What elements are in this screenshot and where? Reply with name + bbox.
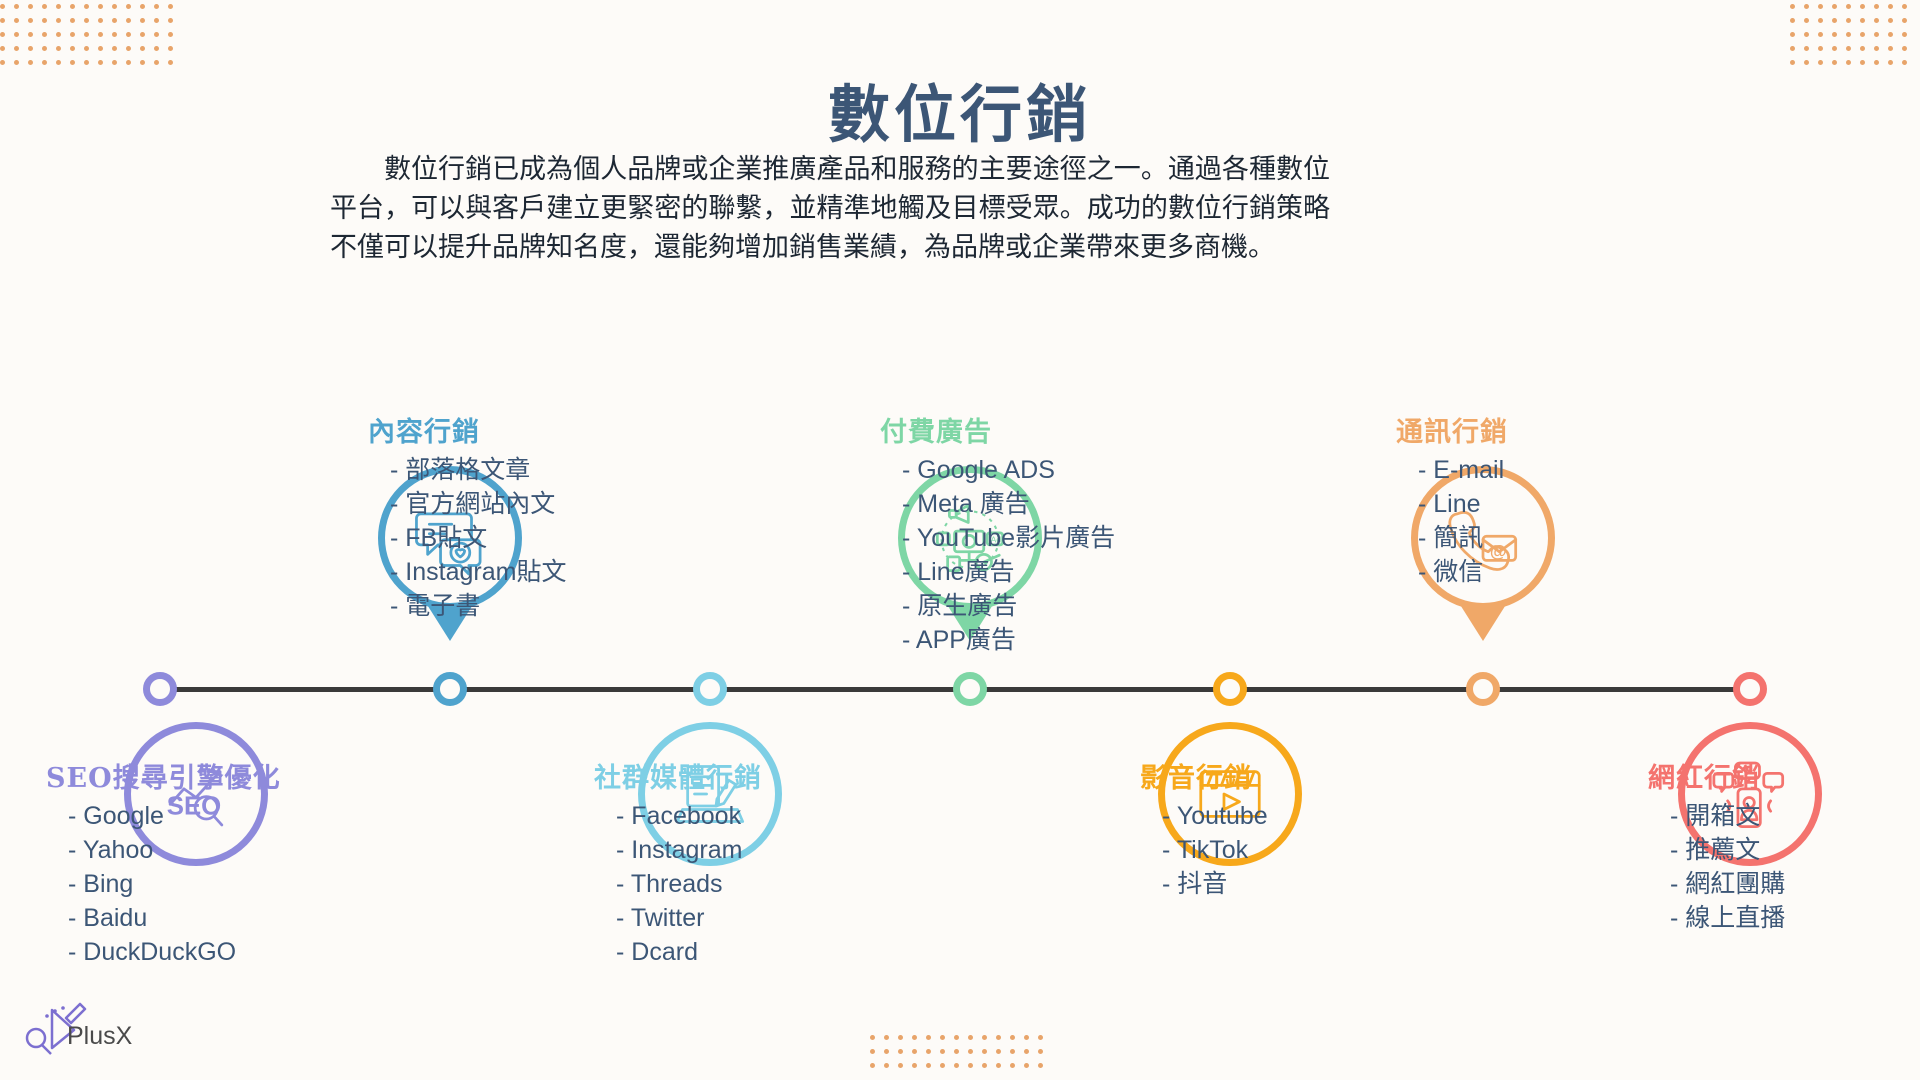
list-item: DuckDuckGO — [68, 935, 346, 969]
dot — [870, 1063, 875, 1068]
dot — [912, 1049, 917, 1054]
dot — [1874, 46, 1879, 51]
dot — [28, 4, 33, 9]
dot — [1818, 32, 1823, 37]
dot — [84, 18, 89, 23]
dot — [1804, 32, 1809, 37]
dot — [14, 18, 19, 23]
timeline-node-paid[interactable] — [953, 672, 987, 706]
dot — [1790, 4, 1795, 9]
dot — [0, 46, 5, 51]
list-item: Youtube — [1162, 799, 1440, 833]
dot — [168, 4, 173, 9]
dot — [140, 18, 145, 23]
dot — [1874, 32, 1879, 37]
dot — [140, 4, 145, 9]
dot — [28, 32, 33, 37]
dot — [1874, 4, 1879, 9]
dot — [56, 4, 61, 9]
dot — [898, 1049, 903, 1054]
dot — [912, 1035, 917, 1040]
dot — [84, 46, 89, 51]
dot — [98, 18, 103, 23]
dot — [1818, 18, 1823, 23]
dot — [42, 46, 47, 51]
timeline-node-seo[interactable] — [143, 672, 177, 706]
list-item: Baidu — [68, 901, 346, 935]
dot — [1860, 32, 1865, 37]
dot — [1804, 18, 1809, 23]
list-item: Facebook — [616, 799, 894, 833]
section-block-video: 影音行銷YoutubeTikTok抖音 — [1140, 756, 1440, 901]
section-list-messaging: E-mailLine簡訊微信 — [1396, 453, 1696, 589]
dot — [1024, 1063, 1029, 1068]
list-item: TikTok — [1162, 833, 1440, 867]
dot — [1832, 32, 1837, 37]
section-heading-messaging: 通訊行銷 — [1396, 410, 1696, 449]
dot — [154, 46, 159, 51]
dot — [154, 32, 159, 37]
section-heading-seo: SEO搜尋引擎優化 — [46, 756, 346, 795]
dot — [56, 32, 61, 37]
dot — [154, 18, 159, 23]
dot — [70, 4, 75, 9]
dot — [98, 46, 103, 51]
dot — [1818, 4, 1823, 9]
dot — [884, 1063, 889, 1068]
list-item: 網紅團購 — [1670, 867, 1920, 901]
timeline-node-messaging[interactable] — [1466, 672, 1500, 706]
dot — [982, 1049, 987, 1054]
dot — [1860, 4, 1865, 9]
dot — [1902, 18, 1907, 23]
dot — [28, 46, 33, 51]
dot — [1860, 46, 1865, 51]
dot — [1790, 46, 1795, 51]
dot — [1038, 1063, 1043, 1068]
dot — [0, 32, 5, 37]
section-heading-influencer: 網紅行銷 — [1648, 756, 1920, 795]
dot — [940, 1035, 945, 1040]
list-item: E-mail — [1418, 453, 1696, 487]
dot — [1902, 46, 1907, 51]
page-title: 數位行銷 — [0, 64, 1920, 154]
list-item: Instagram貼文 — [390, 555, 668, 589]
dot — [1888, 18, 1893, 23]
dot — [1888, 32, 1893, 37]
dot — [1010, 1049, 1015, 1054]
list-item: 微信 — [1418, 555, 1696, 589]
dot — [70, 46, 75, 51]
list-item: 線上直播 — [1670, 901, 1920, 935]
dot — [126, 4, 131, 9]
plusx-logo: PlusX — [22, 1000, 147, 1062]
dot — [112, 46, 117, 51]
section-list-influencer: 開箱文推薦文網紅團購線上直播 — [1648, 799, 1920, 935]
dot — [982, 1035, 987, 1040]
dot — [140, 46, 145, 51]
dot — [98, 32, 103, 37]
logo-text: PlusX — [67, 1022, 132, 1051]
dot — [42, 18, 47, 23]
dot — [1846, 4, 1851, 9]
dot — [126, 32, 131, 37]
dot — [0, 18, 5, 23]
dot — [954, 1035, 959, 1040]
section-block-influencer: 網紅行銷開箱文推薦文網紅團購線上直播 — [1648, 756, 1920, 935]
dot — [1846, 32, 1851, 37]
dot-grid-bottom — [870, 1035, 1060, 1080]
list-item: Dcard — [616, 935, 894, 969]
dot — [1790, 32, 1795, 37]
timeline-node-social[interactable] — [693, 672, 727, 706]
dot — [1832, 4, 1837, 9]
section-list-content: 部落格文章官方網站內文FB貼文Instagram貼文電子書 — [368, 453, 668, 623]
dot — [84, 4, 89, 9]
section-block-content: 內容行銷部落格文章官方網站內文FB貼文Instagram貼文電子書 — [368, 410, 668, 623]
dot — [42, 32, 47, 37]
dot — [56, 46, 61, 51]
list-item: 簡訊 — [1418, 521, 1696, 555]
dot — [870, 1035, 875, 1040]
list-item: Line — [1418, 487, 1696, 521]
dot — [982, 1063, 987, 1068]
dot — [1860, 18, 1865, 23]
dot — [884, 1035, 889, 1040]
intro-paragraph: 數位行銷已成為個人品牌或企業推廣產品和服務的主要途徑之一。通過各種數位平台，可以… — [330, 150, 1330, 267]
list-item: 推薦文 — [1670, 833, 1920, 867]
dot — [1024, 1035, 1029, 1040]
section-block-social: 社群媒體行銷FacebookInstagramThreadsTwitterDca… — [594, 756, 894, 969]
section-list-social: FacebookInstagramThreadsTwitterDcard — [594, 799, 894, 969]
timeline-node-content[interactable] — [433, 672, 467, 706]
section-block-paid: 付費廣告Google ADSMeta 廣告YouTube影片廣告Line廣告原生… — [880, 410, 1180, 657]
timeline-node-video[interactable] — [1213, 672, 1247, 706]
list-item: 開箱文 — [1670, 799, 1920, 833]
dot — [14, 46, 19, 51]
dot — [1790, 18, 1795, 23]
dot — [926, 1049, 931, 1054]
dot — [1010, 1063, 1015, 1068]
list-item: YouTube影片廣告 — [902, 521, 1180, 555]
section-list-video: YoutubeTikTok抖音 — [1140, 799, 1440, 901]
list-item: Instagram — [616, 833, 894, 867]
dot — [968, 1035, 973, 1040]
dot — [28, 18, 33, 23]
section-heading-video: 影音行銷 — [1140, 756, 1440, 795]
dot — [968, 1049, 973, 1054]
list-item: Google — [68, 799, 346, 833]
dot — [912, 1063, 917, 1068]
dot — [1038, 1049, 1043, 1054]
dot — [1832, 18, 1837, 23]
dot — [1832, 46, 1837, 51]
dot — [1888, 46, 1893, 51]
dot — [996, 1049, 1001, 1054]
dot — [884, 1049, 889, 1054]
dot — [140, 32, 145, 37]
dot — [56, 18, 61, 23]
dot — [1888, 4, 1893, 9]
dot — [1804, 4, 1809, 9]
dot — [42, 4, 47, 9]
list-item: Threads — [616, 867, 894, 901]
section-block-seo: SEO搜尋引擎優化GoogleYahooBingBaiduDuckDuckGO — [46, 756, 346, 969]
dot — [126, 18, 131, 23]
dot — [112, 4, 117, 9]
section-heading-paid: 付費廣告 — [880, 410, 1180, 449]
dot — [940, 1063, 945, 1068]
section-list-paid: Google ADSMeta 廣告YouTube影片廣告Line廣告原生廣告AP… — [880, 453, 1180, 657]
dot — [1024, 1049, 1029, 1054]
dot — [1818, 46, 1823, 51]
dot — [0, 4, 5, 9]
section-list-seo: GoogleYahooBingBaiduDuckDuckGO — [46, 799, 346, 969]
list-item: 部落格文章 — [390, 453, 668, 487]
list-item: FB貼文 — [390, 521, 668, 555]
dot — [14, 32, 19, 37]
list-item: Yahoo — [68, 833, 346, 867]
dot — [898, 1035, 903, 1040]
dot — [1846, 18, 1851, 23]
dot — [70, 32, 75, 37]
dot — [98, 4, 103, 9]
dot — [70, 18, 75, 23]
list-item: 抖音 — [1162, 867, 1440, 901]
list-item: 電子書 — [390, 589, 668, 623]
dot — [14, 4, 19, 9]
list-item: Line廣告 — [902, 555, 1180, 589]
list-item: Google ADS — [902, 453, 1180, 487]
dot — [926, 1035, 931, 1040]
dot — [126, 46, 131, 51]
dot — [898, 1063, 903, 1068]
dot — [112, 32, 117, 37]
dot — [926, 1063, 931, 1068]
dot — [954, 1049, 959, 1054]
dot — [84, 32, 89, 37]
dot — [1902, 4, 1907, 9]
section-heading-social: 社群媒體行銷 — [594, 756, 894, 795]
dot — [1874, 18, 1879, 23]
list-item: 官方網站內文 — [390, 487, 668, 521]
dot — [168, 32, 173, 37]
dot — [996, 1035, 1001, 1040]
dot — [1804, 46, 1809, 51]
dot — [1010, 1035, 1015, 1040]
list-item: Bing — [68, 867, 346, 901]
dot — [112, 18, 117, 23]
dot — [168, 46, 173, 51]
dot — [1902, 32, 1907, 37]
dot — [1038, 1035, 1043, 1040]
list-item: APP廣告 — [902, 623, 1180, 657]
list-item: Twitter — [616, 901, 894, 935]
dot — [954, 1063, 959, 1068]
dot — [154, 4, 159, 9]
timeline-node-influencer[interactable] — [1733, 672, 1767, 706]
dot — [870, 1049, 875, 1054]
list-item: Meta 廣告 — [902, 487, 1180, 521]
dot — [168, 18, 173, 23]
dot — [968, 1063, 973, 1068]
dot — [940, 1049, 945, 1054]
dot — [1846, 46, 1851, 51]
dot — [996, 1063, 1001, 1068]
section-block-messaging: 通訊行銷E-mailLine簡訊微信 — [1396, 410, 1696, 589]
list-item: 原生廣告 — [902, 589, 1180, 623]
section-heading-content: 內容行銷 — [368, 410, 668, 449]
